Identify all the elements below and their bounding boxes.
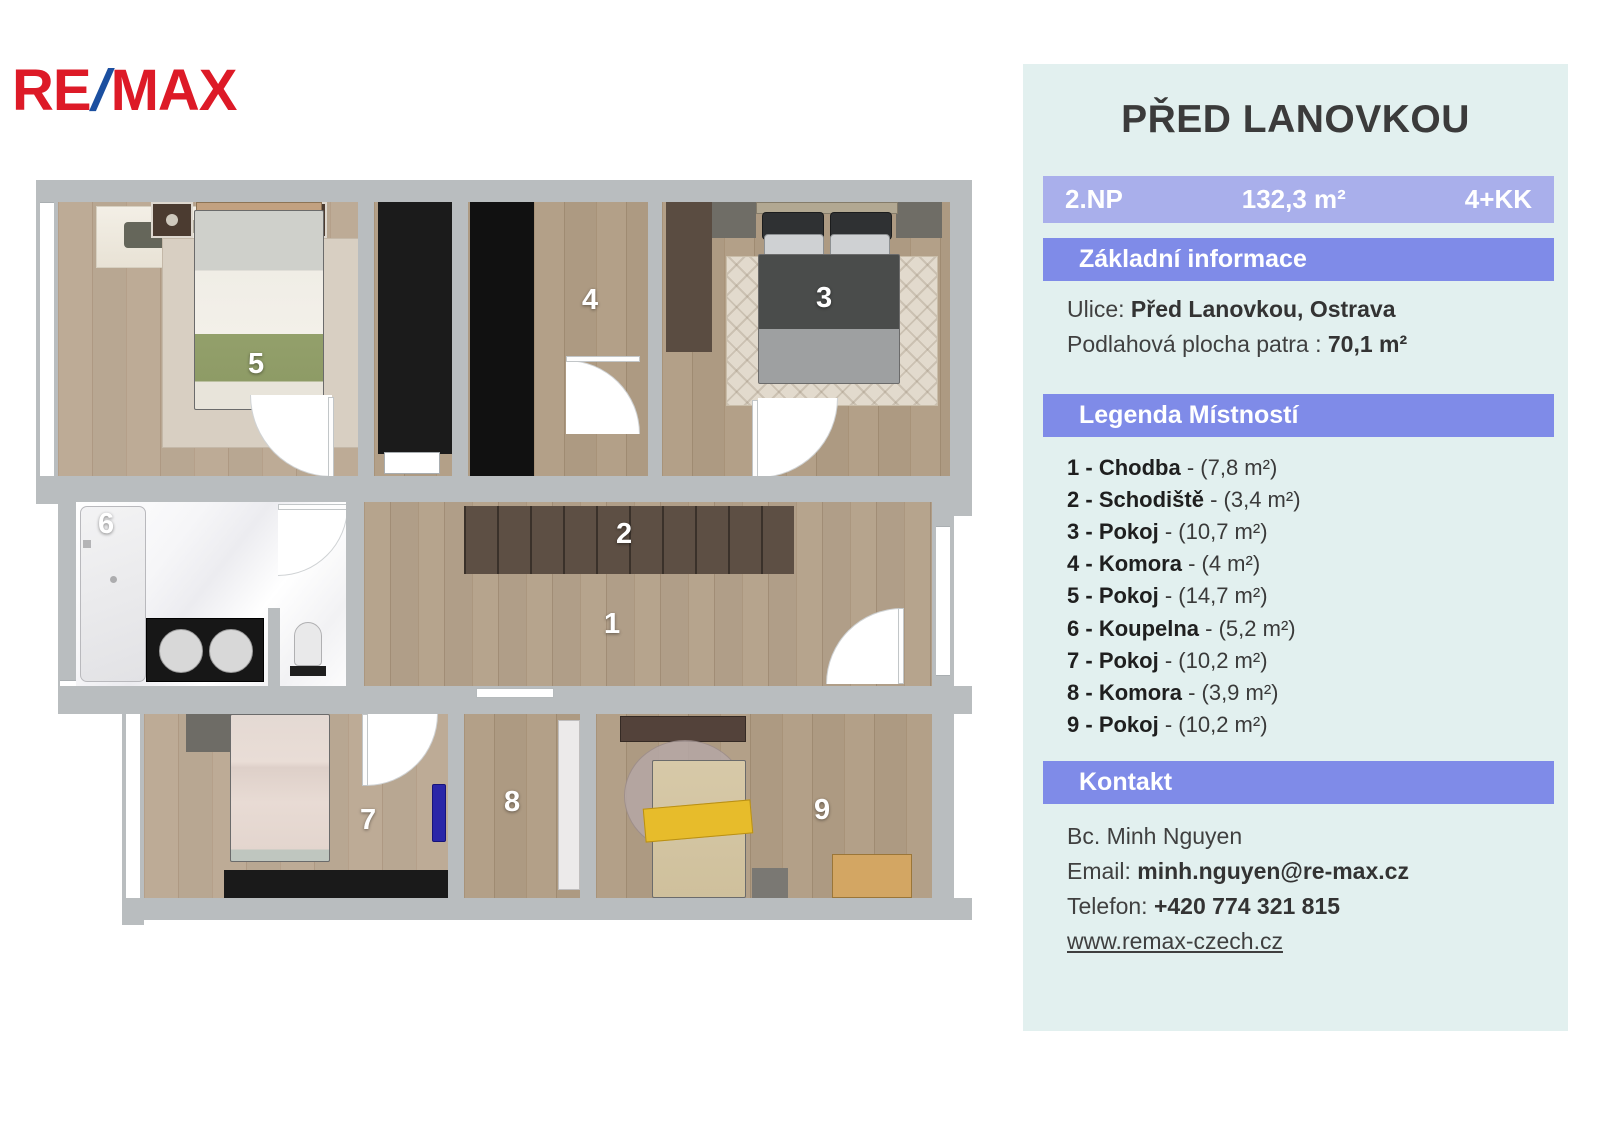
street-value: Před Lanovkou, Ostrava bbox=[1131, 296, 1396, 322]
room-7-number: 7 bbox=[360, 806, 376, 835]
legend-item-area: - (10,2 m²) bbox=[1165, 712, 1268, 737]
room-5-bed bbox=[194, 210, 324, 410]
room-8-shelf bbox=[558, 720, 580, 890]
room-6-toilet-base bbox=[290, 666, 326, 676]
floor-area-value: 70,1 m² bbox=[1328, 331, 1407, 357]
room-6-door-leaf bbox=[278, 504, 348, 510]
room-3-shelf-right bbox=[896, 202, 942, 238]
legend-item-number: 2 - bbox=[1067, 487, 1093, 512]
room-6-vanity bbox=[146, 618, 264, 682]
room-6-tub-drain bbox=[110, 576, 117, 583]
room-1-number: 1 bbox=[604, 610, 620, 639]
room-7-blue-object bbox=[432, 784, 446, 842]
legend-item-number: 5 - bbox=[1067, 583, 1093, 608]
logo-text-re: RE bbox=[12, 62, 91, 120]
website-link[interactable]: www.remax-czech.cz bbox=[1067, 924, 1550, 959]
legend-item-name: Pokoj bbox=[1099, 712, 1159, 737]
outer-wall-bottom bbox=[122, 898, 972, 920]
legend-item: 8 - Komora - (3,9 m²) bbox=[1067, 677, 1550, 709]
shaft-niche-box bbox=[384, 452, 440, 474]
phone-label: Telefon: bbox=[1067, 893, 1148, 919]
legend-item-area: - (3,9 m²) bbox=[1188, 680, 1278, 705]
window-left-lower bbox=[126, 698, 140, 918]
room-3-bed bbox=[758, 254, 900, 384]
legend-item-name: Pokoj bbox=[1099, 583, 1159, 608]
room-5-nightstand-left bbox=[151, 202, 193, 238]
room-8-number: 8 bbox=[504, 788, 520, 817]
floor-area-line: Podlahová plocha patra : 70,1 m² bbox=[1067, 327, 1550, 362]
room-6-toilet bbox=[294, 622, 322, 666]
legend-item: 7 - Pokoj - (10,2 m²) bbox=[1067, 645, 1550, 677]
room-9-desk bbox=[832, 854, 912, 898]
outer-wall-right-upper bbox=[950, 180, 972, 490]
room-6-sink-left bbox=[159, 629, 203, 673]
legend-item-number: 7 - bbox=[1067, 648, 1093, 673]
stat-floor: 2.NP bbox=[1065, 184, 1123, 215]
wall-room6-bottom bbox=[58, 686, 364, 714]
basic-info-body: Ulice: Před Lanovkou, Ostrava Podlahová … bbox=[1067, 292, 1550, 362]
legend-item-name: Komora bbox=[1099, 680, 1182, 705]
wall-room4-right bbox=[648, 180, 662, 480]
closet-shaft-right bbox=[470, 202, 534, 476]
room-5-door-leaf bbox=[328, 397, 334, 477]
floor-area-label: Podlahová plocha patra : bbox=[1067, 331, 1321, 357]
page-title: PŘED LANOVKOU bbox=[1023, 98, 1568, 142]
wall-mid-upper bbox=[36, 476, 972, 502]
basic-info-header: Základní informace bbox=[1043, 238, 1554, 281]
street-label: Ulice: bbox=[1067, 296, 1125, 322]
room-9-headboard-shelf bbox=[620, 716, 746, 742]
window-right-lower bbox=[936, 526, 950, 676]
wall-between-shafts bbox=[452, 180, 468, 480]
legend-item: 9 - Pokoj - (10,2 m²) bbox=[1067, 709, 1550, 741]
legend-item-name: Chodba bbox=[1099, 455, 1181, 480]
legend-item-name: Koupelna bbox=[1099, 616, 1199, 641]
legend-item-number: 1 - bbox=[1067, 455, 1093, 480]
legend-item-name: Komora bbox=[1099, 551, 1182, 576]
room-6-number: 6 bbox=[98, 510, 114, 539]
window-left-upper bbox=[40, 202, 54, 482]
room-6-sink-right bbox=[209, 629, 253, 673]
legend-item-area: - (4 m²) bbox=[1188, 551, 1260, 576]
email-value[interactable]: minh.nguyen@re-max.cz bbox=[1137, 858, 1409, 884]
legend-item-number: 9 - bbox=[1067, 712, 1093, 737]
wall-room5-right bbox=[358, 180, 374, 480]
remax-logo: RE/MAX bbox=[12, 62, 236, 120]
room-7-nightstand bbox=[186, 714, 232, 752]
corridor-threshold bbox=[476, 688, 554, 698]
room-3-wardrobe bbox=[666, 202, 712, 352]
legend-header: Legenda Místností bbox=[1043, 394, 1554, 437]
email-line: Email: minh.nguyen@re-max.cz bbox=[1067, 854, 1550, 889]
legend-item: 2 - Schodiště - (3,4 m²) bbox=[1067, 484, 1550, 516]
legend-item-number: 4 - bbox=[1067, 551, 1093, 576]
phone-value[interactable]: +420 774 321 815 bbox=[1154, 893, 1340, 919]
room-4-door-leaf bbox=[566, 356, 640, 362]
legend-item: 1 - Chodba - (7,8 m²) bbox=[1067, 452, 1550, 484]
street-line: Ulice: Před Lanovkou, Ostrava bbox=[1067, 292, 1550, 327]
room-4-number: 4 bbox=[582, 286, 598, 315]
outer-wall-left-bath bbox=[58, 476, 76, 714]
legend-item-number: 3 - bbox=[1067, 519, 1093, 544]
closet-shaft-left bbox=[378, 202, 452, 454]
legend-item-number: 6 - bbox=[1067, 616, 1093, 641]
phone-line: Telefon: +420 774 321 815 bbox=[1067, 889, 1550, 924]
room-7-wardrobe-bottom bbox=[224, 870, 448, 898]
room-2-number: 2 bbox=[616, 520, 632, 549]
legend-item-area: - (10,7 m²) bbox=[1165, 519, 1268, 544]
stat-area: 132,3 m² bbox=[1242, 184, 1346, 215]
room-3-door-leaf bbox=[752, 400, 758, 478]
room-5-number: 5 bbox=[248, 350, 264, 379]
legend-item: 6 - Koupelna - (5,2 m²) bbox=[1067, 613, 1550, 645]
wall-room8-right bbox=[580, 700, 596, 900]
room-9-door-leaf bbox=[898, 608, 904, 684]
room-6-tub-fixtures bbox=[83, 540, 91, 604]
contact-header: Kontakt bbox=[1043, 761, 1554, 804]
room-9-number: 9 bbox=[814, 796, 830, 825]
legend-item-area: - (5,2 m²) bbox=[1205, 616, 1295, 641]
floor-plan: 5 4 3 6 2 1 bbox=[36, 180, 972, 920]
email-label: Email: bbox=[1067, 858, 1131, 884]
room-3-number: 3 bbox=[816, 284, 832, 313]
stats-band: 2.NP 132,3 m² 4+KK bbox=[1043, 176, 1554, 223]
agent-name: Bc. Minh Nguyen bbox=[1067, 819, 1550, 854]
room-9-side-block bbox=[752, 868, 788, 898]
legend-item: 4 - Komora - (4 m²) bbox=[1067, 548, 1550, 580]
room-4-floor bbox=[534, 202, 652, 476]
room-3-shelf-left bbox=[712, 202, 756, 238]
room-7-door-leaf bbox=[362, 714, 368, 786]
stat-layout: 4+KK bbox=[1465, 184, 1532, 215]
legend-item-name: Pokoj bbox=[1099, 648, 1159, 673]
wall-room7-right bbox=[448, 700, 464, 900]
legend-item-area: - (10,2 m²) bbox=[1165, 648, 1268, 673]
legend-item-number: 8 - bbox=[1067, 680, 1093, 705]
info-panel: PŘED LANOVKOU 2.NP 132,3 m² 4+KK Základn… bbox=[1023, 64, 1568, 1031]
logo-text-max: MAX bbox=[111, 62, 237, 120]
room-7-bed bbox=[230, 714, 330, 862]
outer-wall-top bbox=[36, 180, 972, 202]
legend-item-area: - (7,8 m²) bbox=[1187, 455, 1277, 480]
legend-item-name: Pokoj bbox=[1099, 519, 1159, 544]
legend-item: 5 - Pokoj - (14,7 m²) bbox=[1067, 580, 1550, 612]
legend-item-name: Schodiště bbox=[1099, 487, 1204, 512]
contact-body: Bc. Minh Nguyen Email: minh.nguyen@re-ma… bbox=[1067, 819, 1550, 959]
legend-list: 1 - Chodba - (7,8 m²) 2 - Schodiště - (3… bbox=[1067, 452, 1550, 741]
legend-item-area: - (3,4 m²) bbox=[1210, 487, 1300, 512]
legend-item-area: - (14,7 m²) bbox=[1165, 583, 1268, 608]
legend-item: 3 - Pokoj - (10,7 m²) bbox=[1067, 516, 1550, 548]
